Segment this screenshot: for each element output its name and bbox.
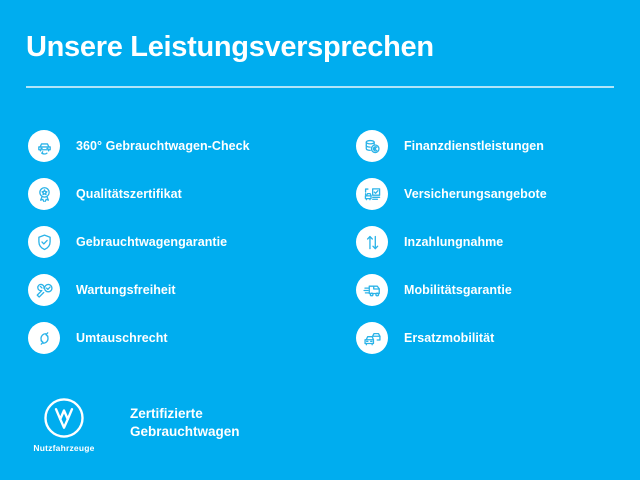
promise-label: Versicherungsangebote xyxy=(404,187,547,201)
promise-label: Inzahlungnahme xyxy=(404,235,503,249)
wrench-check-icon xyxy=(28,274,60,306)
footer-claim-line1: Zertifizierte xyxy=(130,405,240,423)
promise-item-gebrauchtwagengarantie[interactable]: Gebrauchtwagengarantie xyxy=(28,218,328,266)
promise-label: 360° Gebrauchtwagen-Check xyxy=(76,139,250,153)
promise-label: Qualitätszertifikat xyxy=(76,187,182,201)
promises-column-left: 360° Gebrauchtwagen-Check Qualitätszerti… xyxy=(28,122,328,362)
promise-item-versicherungsangebote[interactable]: Versicherungsangebote xyxy=(356,170,640,218)
promise-label: Umtauschrecht xyxy=(76,331,168,345)
footer-claim: Zertifizierte Gebrauchtwagen xyxy=(130,405,240,441)
coins-euro-icon xyxy=(356,130,388,162)
logo-subtext: Nutzfahrzeuge xyxy=(33,443,94,453)
exchange-arrows-icon xyxy=(28,322,60,354)
slide-canvas: Unsere Leistungsversprechen 360° Gebrauc… xyxy=(0,0,640,480)
two-cars-icon xyxy=(356,322,388,354)
promise-item-inzahlungnahme[interactable]: Inzahlungnahme xyxy=(356,218,640,266)
promise-item-mobilitaetsgarantie[interactable]: Mobilitätsgarantie xyxy=(356,266,640,314)
shield-check-icon xyxy=(28,226,60,258)
promise-item-finanzdienstleistungen[interactable]: Finanzdienstleistungen xyxy=(356,122,640,170)
car-360-check-icon xyxy=(28,130,60,162)
promise-item-qualitaetszertifikat[interactable]: Qualitätszertifikat xyxy=(28,170,328,218)
title-divider xyxy=(26,86,614,88)
page-title: Unsere Leistungsversprechen xyxy=(26,32,434,64)
car-document-check-icon xyxy=(356,178,388,210)
vw-roundel-logo xyxy=(42,396,86,440)
arrows-up-down-icon xyxy=(356,226,388,258)
promise-item-ersatzmobilitaet[interactable]: Ersatzmobilität xyxy=(356,314,640,362)
footer-logo-lockup: Nutzfahrzeuge Zertifizierte Gebrauchtwag… xyxy=(28,396,240,453)
promise-item-wartungsfreiheit[interactable]: Wartungsfreiheit xyxy=(28,266,328,314)
promise-label: Ersatzmobilität xyxy=(404,331,494,345)
promises-column-right: Finanzdienstleistungen Versicherungsange… xyxy=(356,122,640,362)
promise-label: Wartungsfreiheit xyxy=(76,283,176,297)
logo-block: Nutzfahrzeuge xyxy=(28,396,100,453)
promise-label: Mobilitätsgarantie xyxy=(404,283,512,297)
promise-label: Gebrauchtwagengarantie xyxy=(76,235,227,249)
promise-label: Finanzdienstleistungen xyxy=(404,139,544,153)
promise-item-umtauschrecht[interactable]: Umtauschrecht xyxy=(28,314,328,362)
footer-claim-line2: Gebrauchtwagen xyxy=(130,423,240,441)
van-motion-icon xyxy=(356,274,388,306)
award-rosette-icon xyxy=(28,178,60,210)
promise-item-gebrauchtwagen-check[interactable]: 360° Gebrauchtwagen-Check xyxy=(28,122,328,170)
